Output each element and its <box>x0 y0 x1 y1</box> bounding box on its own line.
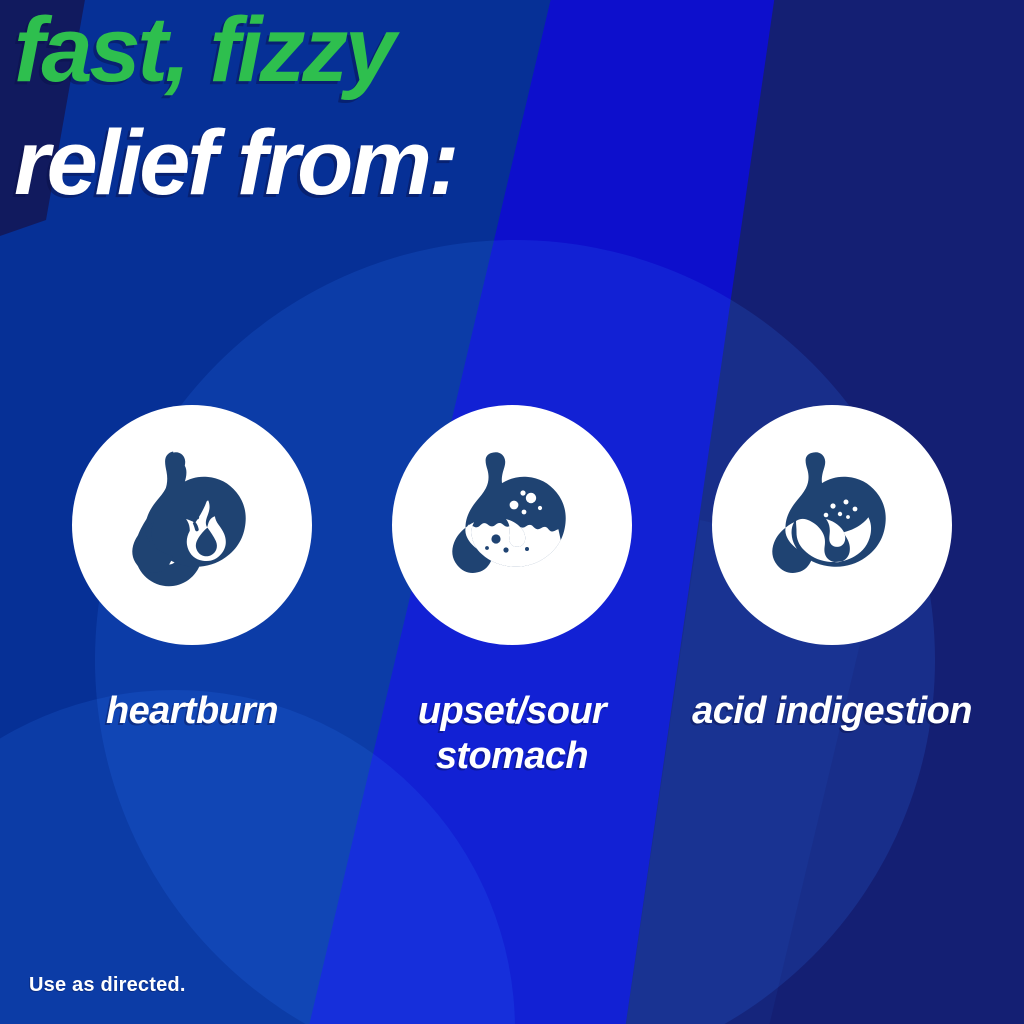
symptom-label-upset-sour-stomach: upset/sour stomach <box>357 689 667 779</box>
headline-line-2: relief from: <box>14 107 954 220</box>
symptom-item-heartburn: heartburn <box>32 405 352 734</box>
bubble <box>510 501 519 510</box>
bubble <box>538 506 542 510</box>
icon-disc-upset-sour-stomach <box>392 405 632 645</box>
stomach-bubbles-icon <box>432 445 592 605</box>
stomach-glyph <box>452 452 570 583</box>
stomach-glyph <box>772 452 885 573</box>
symptom-item-acid-indigestion: acid indigestion <box>672 405 992 734</box>
bubble <box>526 493 536 503</box>
headline-line-1: fast, fizzy <box>14 0 954 107</box>
symptom-label-heartburn: heartburn <box>106 689 278 734</box>
icon-disc-acid-indigestion <box>712 405 952 645</box>
footnote-use-as-directed: Use as directed. <box>29 974 186 997</box>
icon-disc-heartburn <box>72 405 312 645</box>
symptom-item-upset-sour-stomach: upset/sour stomach <box>352 405 672 779</box>
bubble <box>522 510 527 515</box>
stomach-acid-icon <box>752 445 912 605</box>
stomach-flame-icon <box>112 445 272 605</box>
symptom-list: heartburn <box>0 405 1024 779</box>
poster-content: fast, fizzy relief from: <box>0 0 1024 1024</box>
bubble <box>520 490 525 495</box>
symptom-label-acid-indigestion: acid indigestion <box>692 689 972 734</box>
promo-poster: fast, fizzy relief from: <box>0 0 1024 1024</box>
headline-block: fast, fizzy relief from: <box>14 0 954 220</box>
